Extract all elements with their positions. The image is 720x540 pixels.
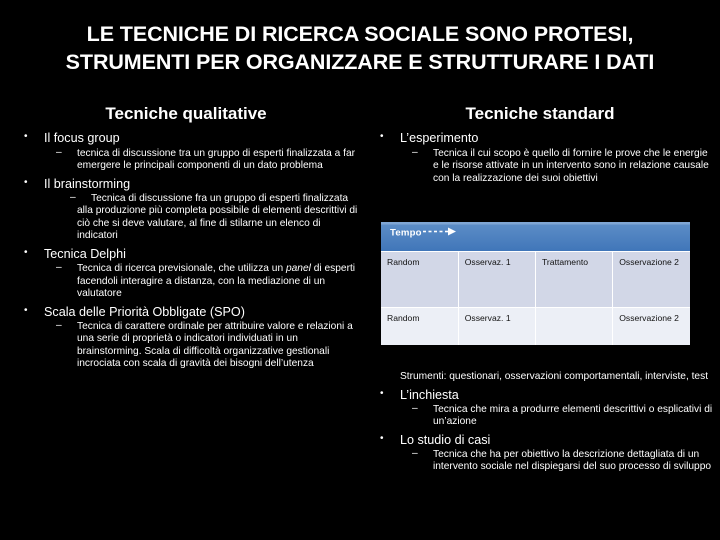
dash-bullet-icon: – (412, 403, 418, 416)
sub-list: – Tecnica di carattere ordinale per attr… (44, 321, 362, 371)
sub-list-item-text-pre: Tecnica di ricerca previsionale, che uti… (77, 263, 286, 274)
dash-bullet-icon: – (56, 192, 76, 205)
dash-bullet-icon: – (56, 320, 62, 333)
tempo-header-label: Tempo (390, 228, 422, 239)
table-cell (536, 308, 613, 346)
list-item-inchiesta: • L’inchiesta – Tecnica che mira a produ… (366, 387, 714, 429)
sub-list-item-text: tecnica di discussione tra un gruppo di … (77, 148, 355, 172)
sub-list-item: – Tecnica che ha per obiettivo la descri… (400, 449, 714, 474)
right-column: Tecniche standard • L’esperimento – Tecn… (366, 104, 714, 188)
right-bullet-list-top: • L’esperimento – Tecnica il cui scopo è… (366, 130, 714, 185)
sub-list-item: –Tecnica di ricerca previsionale, che ut… (44, 263, 362, 301)
sub-list-item: – Tecnica di discussione fra un gruppo d… (44, 193, 362, 243)
sub-list: – Tecnica di discussione fra un gruppo d… (44, 193, 362, 243)
sub-list-item-text: Tecnica di discussione fra un gruppo di … (77, 193, 357, 242)
table-cell: Random (381, 308, 458, 346)
table-cell: Osservaz. 1 (458, 252, 535, 308)
list-item-esperimento: • L’esperimento – Tecnica il cui scopo è… (366, 130, 714, 185)
right-column-lower: Strumenti: questionari, osservazioni com… (366, 367, 714, 477)
table-cell: Osservazione 2 (613, 252, 690, 308)
sub-list-item-text-emphasis: panel (286, 263, 311, 274)
sub-list: – Tecnica che ha per obiettivo la descri… (400, 449, 714, 474)
list-item-label: Tecnica Delphi (44, 247, 126, 261)
tempo-table-head: Tempo (381, 222, 690, 252)
sub-list-item-text: Tecnica di carattere ordinale per attrib… (77, 321, 353, 370)
table-row: Random Osservaz. 1 Trattamento Osservazi… (381, 252, 690, 308)
bullet-dot-icon: • (380, 387, 384, 402)
dash-bullet-icon: – (56, 147, 62, 160)
slide-canvas: LE TECNICHE DI RICERCA SOCIALE SONO PROT… (0, 0, 720, 540)
title-line-2: STRUMENTI PER ORGANIZZARE E STRUTTURARE … (18, 48, 702, 76)
strumenti-note: Strumenti: questionari, osservazioni com… (366, 371, 714, 384)
tempo-table-body: Random Osservaz. 1 Trattamento Osservazi… (381, 252, 690, 346)
list-item-label: Scala delle Priorità Obbligate (SPO) (44, 305, 245, 319)
table-cell: Random (381, 252, 458, 308)
list-item-studio-di-casi: • Lo studio di casi – Tecnica che ha per… (366, 432, 714, 474)
tempo-header-cell: Tempo (381, 222, 690, 252)
list-item-label: L’esperimento (400, 131, 478, 145)
table-row: Random Osservaz. 1 Osservazione 2 (381, 308, 690, 346)
sub-list: – Tecnica che mira a produrre elementi d… (400, 404, 714, 429)
dash-bullet-icon: – (412, 147, 418, 160)
list-item-focus-group: • Il focus group – tecnica di discussion… (10, 130, 362, 172)
right-bullet-list-bottom: • L’inchiesta – Tecnica che mira a produ… (366, 387, 714, 474)
list-item-tecnica-delphi: • Tecnica Delphi –Tecnica di ricerca pre… (10, 246, 362, 301)
bullet-dot-icon: • (24, 304, 28, 319)
list-item-scala-priorita-obbligate: • Scala delle Priorità Obbligate (SPO) –… (10, 304, 362, 371)
list-item-label: L’inchiesta (400, 388, 459, 402)
left-column: Tecniche qualitative • Il focus group – … (10, 104, 362, 374)
table-header-row: Tempo (381, 222, 690, 252)
sub-list-item: – Tecnica che mira a produrre elementi d… (400, 404, 714, 429)
sub-list: –Tecnica di ricerca previsionale, che ut… (44, 263, 362, 301)
tempo-table: Tempo Random (381, 222, 690, 345)
title-line-1: LE TECNICHE DI RICERCA SOCIALE SONO PROT… (18, 20, 702, 48)
sub-list-item: – tecnica di discussione tra un gruppo d… (44, 148, 362, 173)
bullet-dot-icon: • (24, 246, 28, 261)
slide-title: LE TECNICHE DI RICERCA SOCIALE SONO PROT… (18, 20, 702, 77)
right-column-heading: Tecniche standard (366, 104, 714, 124)
table-cell: Osservazione 2 (613, 308, 690, 346)
left-bullet-list: • Il focus group – tecnica di discussion… (10, 130, 362, 371)
list-item-label: Il focus group (44, 131, 120, 145)
tempo-table-container: Tempo Random (381, 222, 690, 345)
list-item-label: Il brainstorming (44, 177, 130, 191)
list-item-label: Lo studio di casi (400, 433, 490, 447)
sub-list-item-text: Tecnica che ha per obiettivo la descrizi… (433, 449, 711, 473)
table-cell: Osservaz. 1 (458, 308, 535, 346)
sub-list: – Tecnica il cui scopo è quello di forni… (400, 148, 714, 186)
left-column-heading: Tecniche qualitative (10, 104, 362, 124)
sub-list-item-text: Tecnica il cui scopo è quello di fornire… (433, 148, 709, 184)
sub-list-item: – Tecnica di carattere ordinale per attr… (44, 321, 362, 371)
bullet-dot-icon: • (24, 176, 28, 191)
sub-list-item: – Tecnica il cui scopo è quello di forni… (400, 148, 714, 186)
table-cell: Trattamento (536, 252, 613, 308)
list-item-brainstorming: • Il brainstorming – Tecnica di discussi… (10, 176, 362, 243)
bullet-dot-icon: • (380, 130, 384, 145)
dash-bullet-icon: – (56, 262, 62, 275)
sub-list: – tecnica di discussione tra un gruppo d… (44, 148, 362, 173)
dash-bullet-icon: – (412, 448, 418, 461)
sub-list-item-text: Tecnica che mira a produrre elementi des… (433, 404, 712, 428)
bullet-dot-icon: • (380, 432, 384, 447)
bullet-dot-icon: • (24, 130, 28, 145)
arrow-right-icon (423, 227, 457, 239)
